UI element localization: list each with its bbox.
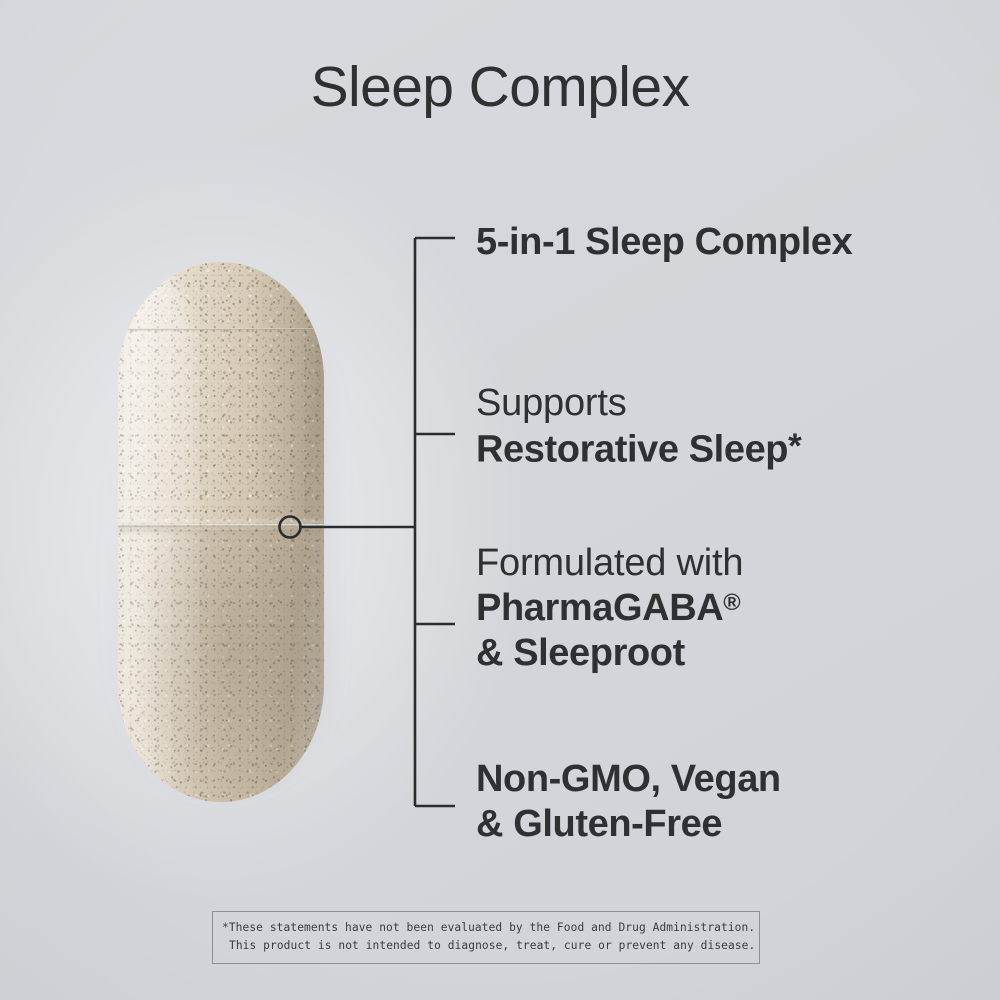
- callout-line: 5-in-1 Sleep Complex: [476, 220, 852, 265]
- callout-restorative-sleep: Supports Restorative Sleep*: [476, 381, 801, 472]
- callout-non-gmo-vegan-gluten-free: Non-GMO, Vegan & Gluten-Free: [476, 757, 781, 847]
- disclaimer-line-2: This product is not intended to diagnose…: [222, 937, 750, 955]
- callout-line: Non-GMO, Vegan: [476, 757, 781, 802]
- registered-trademark-icon: ®: [723, 589, 740, 615]
- capsule-shading: [254, 262, 324, 802]
- page-title: Sleep Complex: [0, 58, 1000, 118]
- fda-disclaimer: *These statements have not been evaluate…: [212, 911, 760, 964]
- capsule-image: [118, 262, 324, 802]
- product-infographic: Sleep Complex: [0, 0, 1000, 1000]
- disclaimer-line-1: *These statements have not been evaluate…: [222, 919, 750, 937]
- callout-pharmagaba-sleeproot: Formulated with PharmaGABA® & Sleeproot: [476, 541, 743, 675]
- callout-line: & Sleeproot: [476, 631, 743, 676]
- callout-line: Supports: [476, 381, 801, 426]
- callout-line-text: Restorative Sleep: [476, 428, 788, 470]
- capsule-seam-join: [118, 524, 324, 528]
- callout-five-in-one: 5-in-1 Sleep Complex: [476, 220, 852, 265]
- callout-line: Formulated with: [476, 541, 743, 586]
- asterisk-marker: *: [788, 427, 801, 466]
- callout-line: & Gluten-Free: [476, 802, 781, 847]
- capsule-seam-top: [118, 328, 324, 331]
- callout-line: PharmaGABA®: [476, 586, 743, 631]
- callout-line: Restorative Sleep*: [476, 426, 801, 472]
- capsule-shape: [118, 262, 324, 802]
- callout-line-text: PharmaGABA: [476, 587, 723, 629]
